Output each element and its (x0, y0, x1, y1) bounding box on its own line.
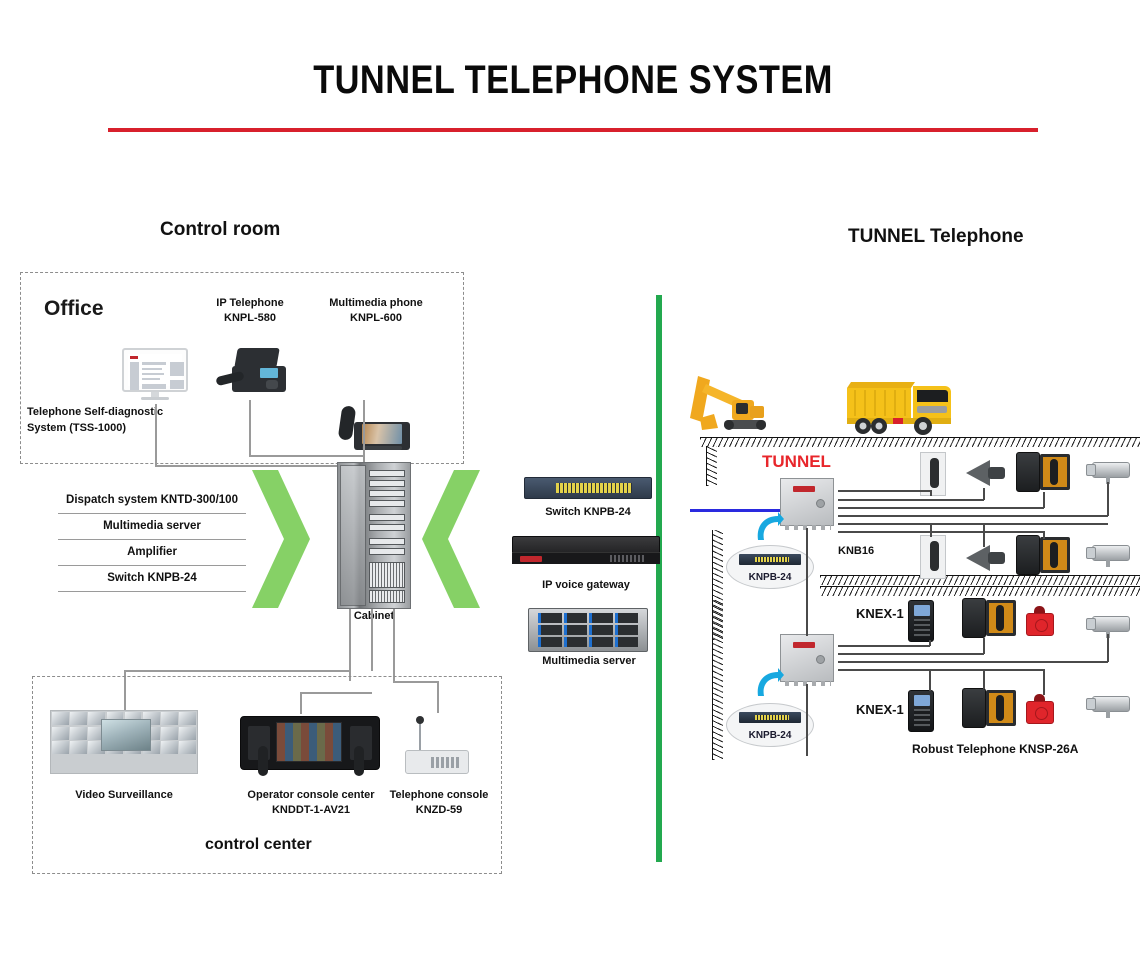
tunnel-wall-c (712, 600, 723, 760)
wire-r4-a (838, 669, 1044, 671)
wire-r2-c (838, 531, 1044, 533)
wire-r1-d (838, 515, 1108, 517)
ip-telephone-caption-line2: KNPL-580 (196, 311, 304, 326)
telephone-console-caption-line2: KNZD-59 (388, 803, 490, 818)
blue-arrow-icon (754, 668, 784, 698)
operator-console-icon (240, 712, 380, 778)
tss-caption-line1: Telephone Self-diagnostic (27, 404, 207, 420)
telephone-console-icon (405, 712, 471, 774)
wire-r2-c2 (1043, 531, 1045, 539)
wire-r4-c2 (1043, 669, 1045, 695)
connector-cabinet-2 (371, 609, 373, 671)
cabinet-content-item: Switch KNPB-24 (58, 566, 246, 592)
cabinet-contents-list: Dispatch system KNTD-300/100 Multimedia … (58, 488, 246, 592)
emergency-phone-box-icon (962, 598, 1016, 638)
wire-r1-c (838, 507, 1044, 509)
excavator-icon (688, 370, 768, 438)
wire-r3-a (838, 645, 930, 647)
operator-console-caption: Operator console center KNDDT-1-AV21 (236, 788, 386, 818)
emergency-phone-box-icon (1016, 452, 1070, 492)
connector-cabinet-3 (393, 609, 395, 681)
junction-box-knb16-icon (780, 478, 834, 526)
wire-r3-b (838, 653, 984, 655)
tunnel-camera-icon (1086, 696, 1130, 716)
wire-r1-a (838, 490, 930, 492)
tunnel-wall-phone-icon (920, 535, 946, 579)
cabinet-label: Cabinet (342, 609, 406, 624)
wire-r4-a2 (929, 669, 931, 691)
trunk-cable-2 (806, 684, 808, 756)
wire-r3-c2 (1107, 634, 1109, 662)
wire-r1-d2 (1107, 482, 1109, 516)
multimedia-phone-icon (336, 404, 410, 456)
tunnel-ground-top (700, 437, 1140, 447)
knex-1-label-2: KNEX-1 (856, 702, 904, 717)
cabinet-content-item: Multimedia server (58, 514, 246, 540)
connector-mmphone (363, 400, 365, 464)
wire-r1-c2 (1043, 492, 1045, 508)
blue-arrow-icon (754, 512, 784, 542)
ip-telephone-caption: IP Telephone KNPL-580 (196, 296, 304, 326)
cabinet-content-item: Dispatch system KNTD-300/100 (58, 488, 246, 514)
title-divider-rule (108, 128, 1038, 132)
ip-voice-gateway-icon (512, 536, 660, 564)
video-surveillance-caption: Video Surveillance (58, 788, 190, 803)
tunnel-wall-a (706, 446, 717, 486)
wire-r2-a2 (930, 523, 932, 537)
tunnel-switch-label-1: KNPB-24 (727, 572, 813, 583)
wire-r1-b (838, 499, 984, 501)
wire-r3-c (838, 661, 1108, 663)
knb16-label: KNB16 (838, 545, 874, 557)
horn-speaker-icon (966, 545, 1006, 571)
trunk-cable-1 (806, 528, 808, 636)
connector-tss-h (155, 465, 345, 467)
switch-knpb24-icon (524, 477, 652, 499)
tunnel-ground-bottom (820, 586, 1140, 596)
tunnel-switch-oval-2: KNPB-24 (726, 703, 814, 747)
ip-telephone-caption-line1: IP Telephone (196, 296, 304, 311)
operator-console-caption-line1: Operator console center (236, 788, 386, 803)
telephone-console-caption: Telephone console KNZD-59 (388, 788, 490, 818)
operator-console-caption-line2: KNDDT-1-AV21 (236, 803, 386, 818)
tunnel-switch-oval-1: KNPB-24 (726, 545, 814, 589)
connector-tss (155, 404, 157, 466)
emergency-phone-box-icon (962, 688, 1016, 728)
wire-r2-b2 (983, 523, 985, 547)
tss-monitor-icon (122, 348, 188, 400)
alarm-beacon-icon (1026, 606, 1054, 636)
horn-speaker-icon (966, 460, 1006, 486)
robust-telephone-caption: Robust Telephone KNSP-26A (912, 742, 1078, 756)
ip-telephone-icon (214, 344, 286, 400)
dump-truck-icon (845, 374, 955, 438)
multimedia-server-caption: Multimedia server (516, 654, 662, 669)
multimedia-server-icon (528, 608, 648, 652)
connector-ipphone-h (249, 455, 364, 457)
ip-voice-gateway-caption: IP voice gateway (510, 578, 662, 593)
multimedia-phone-caption: Multimedia phone KNPL-600 (316, 296, 436, 326)
wire-r1-a2 (930, 490, 932, 496)
wire-r1-b2 (983, 488, 985, 500)
wire-r4-b2 (983, 669, 985, 689)
tunnel-ground-mid (820, 575, 1140, 585)
page-title: TUNNEL TELEPHONE SYSTEM (80, 58, 1066, 103)
tunnel-switch-label-2: KNPB-24 (727, 730, 813, 741)
tunnel-telephone-heading: TUNNEL Telephone (848, 226, 1024, 248)
multimedia-phone-caption-line2: KNPL-600 (316, 311, 436, 326)
tunnel-camera-icon (1086, 545, 1130, 565)
telephone-console-caption-line1: Telephone console (388, 788, 490, 803)
connector-ipphone (249, 400, 251, 456)
tss-caption: Telephone Self-diagnostic System (TSS-10… (27, 404, 207, 436)
tss-caption-line2: System (TSS-1000) (27, 420, 207, 436)
cabinet-icon (337, 462, 411, 609)
tunnel-camera-icon (1086, 616, 1130, 636)
video-surveillance-icon (50, 710, 198, 774)
switch-knpb24-caption: Switch KNPB-24 (522, 505, 654, 520)
alarm-beacon-icon (1026, 694, 1054, 724)
knex-1-label-1: KNEX-1 (856, 606, 904, 621)
wire-r2-d (838, 523, 1108, 525)
junction-box-2-icon (780, 634, 834, 682)
wire-r3-a2 (929, 640, 931, 646)
office-label: Office (44, 297, 104, 321)
robust-telephone-icon (908, 690, 934, 732)
control-center-label: control center (205, 836, 312, 854)
emergency-phone-box-icon (1016, 535, 1070, 575)
connector-cabinet-h1 (124, 670, 350, 672)
cabinet-content-item: Amplifier (58, 540, 246, 566)
wire-r3-b2 (983, 638, 985, 654)
tunnel-camera-icon (1086, 462, 1130, 482)
robust-telephone-icon (908, 600, 934, 642)
tunnel-label: TUNNEL (762, 452, 831, 472)
multimedia-phone-caption-line1: Multimedia phone (316, 296, 436, 311)
control-room-heading: Control room (160, 219, 280, 241)
